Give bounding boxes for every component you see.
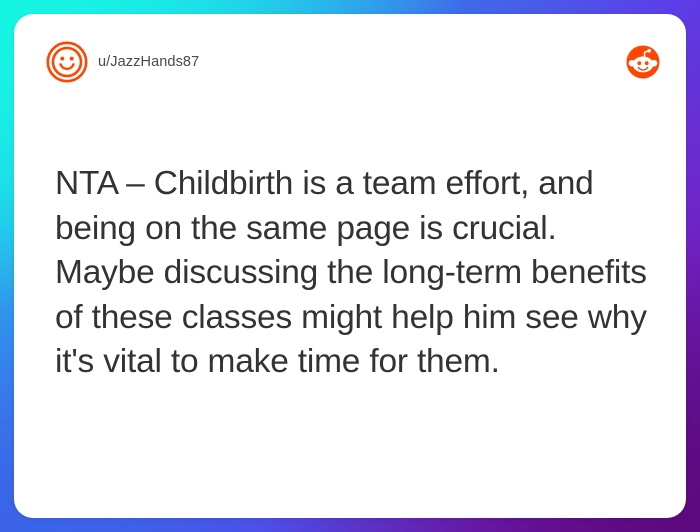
comment-text: NTA – Childbirth is a team effort, and b… <box>55 162 655 385</box>
card-body: NTA – Childbirth is a team effort, and b… <box>55 162 655 385</box>
reddit-snoo-icon[interactable] <box>626 45 660 79</box>
smiley-face-icon <box>40 41 82 83</box>
reddit-comment-card: u/JazzHands87 <box>14 14 686 518</box>
card-header: u/JazzHands87 <box>14 14 686 110</box>
username-label: u/JazzHands87 <box>98 54 199 70</box>
gradient-backdrop: u/JazzHands87 <box>0 0 700 532</box>
